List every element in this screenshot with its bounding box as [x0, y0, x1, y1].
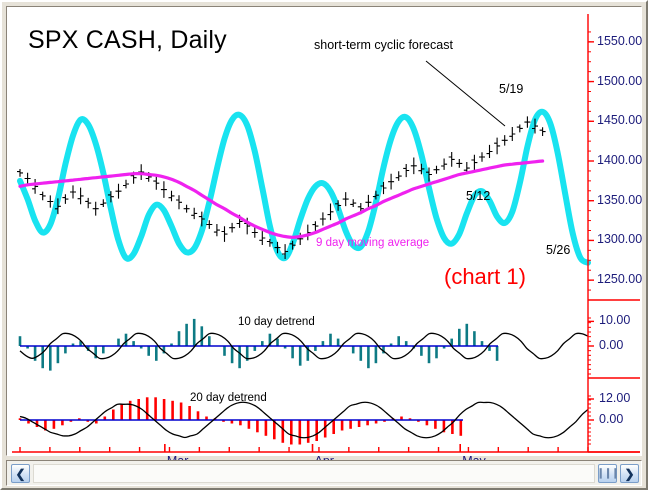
- chart-plot-area[interactable]: [8, 8, 640, 454]
- page-title: SPX CASH, Daily: [28, 26, 227, 55]
- detrend-10-y-axis-label: 10.00: [599, 313, 630, 327]
- label-chart-number: (chart 1): [444, 264, 526, 290]
- detrend-10-y-axis-label: 0.00: [599, 338, 623, 352]
- ohlc-bar: [328, 204, 334, 221]
- annotation-leader-line: [426, 61, 505, 126]
- ohlc-bar: [494, 138, 500, 155]
- ohlc-bar: [471, 155, 477, 171]
- ohlc-bar: [184, 205, 190, 213]
- y-axis-label: 1300.00: [597, 232, 642, 246]
- ohlc-bar: [517, 125, 523, 133]
- ohlc-bar: [62, 194, 68, 204]
- chart-svg: [8, 8, 640, 454]
- legend-moving-average: 9 day moving average: [316, 237, 429, 249]
- detrend-20-y-axis-label: 0.00: [599, 412, 623, 426]
- ohlc-bar: [524, 116, 530, 127]
- ohlc-bar: [32, 179, 38, 194]
- ohlc-bar: [456, 159, 462, 168]
- y-axis-label: 1250.00: [597, 272, 642, 286]
- ohlc-bar: [343, 192, 349, 206]
- ohlc-bar: [161, 181, 167, 198]
- ohlc-bar: [85, 198, 91, 208]
- ohlc-bar: [123, 180, 129, 189]
- label-date-5-26: 5/26: [546, 243, 570, 257]
- ohlc-bar: [411, 158, 417, 175]
- ohlc-bar: [70, 185, 76, 198]
- ohlc-bar: [479, 152, 485, 162]
- y-axis-label: 1350.00: [597, 193, 642, 207]
- ohlc-bar: [434, 166, 440, 174]
- scrollbar-track[interactable]: [33, 464, 595, 483]
- y-axis-label: 1550.00: [597, 34, 642, 48]
- ohlc-bar: [305, 225, 311, 241]
- ohlc-bar: [396, 171, 402, 181]
- ohlc-bar: [169, 191, 175, 202]
- ohlc-bar: [502, 135, 508, 146]
- ohlc-bar: [116, 184, 122, 199]
- ohlc-bar: [17, 169, 23, 177]
- horizontal-scrollbar[interactable]: ❮ ❙❙❙ ❯: [6, 460, 642, 486]
- ohlc-bar: [259, 231, 265, 245]
- label-date-5-19: 5/19: [499, 82, 523, 96]
- ohlc-bar: [25, 173, 31, 184]
- ohlc-bar: [441, 159, 447, 170]
- label-date-5-12: 5/12: [466, 189, 490, 203]
- label-detrend-10: 10 day detrend: [238, 316, 315, 328]
- ohlc-bar: [176, 195, 182, 209]
- detrend-20-y-axis-label: 12.00: [599, 391, 630, 405]
- ohlc-bar: [350, 199, 356, 207]
- chart-window: SPX CASH, Daily short-term cyclic foreca…: [0, 0, 648, 490]
- annotation-forecast: short-term cyclic forecast: [314, 38, 453, 52]
- scrollbar-grip-icon[interactable]: ❙❙❙: [598, 464, 617, 483]
- ohlc-bar: [153, 177, 159, 190]
- ohlc-bar: [100, 199, 106, 207]
- ohlc-bar: [40, 192, 46, 201]
- ohlc-bar: [191, 208, 197, 219]
- cyclic-forecast-line: [20, 112, 588, 263]
- ohlc-bar: [222, 226, 228, 242]
- ohlc-bar: [78, 188, 84, 205]
- ohlc-bar: [487, 145, 493, 158]
- ohlc-bar: [509, 127, 515, 141]
- label-detrend-20: 20 day detrend: [190, 392, 267, 404]
- ohlc-bar: [312, 221, 318, 231]
- y-axis-label: 1450.00: [597, 113, 642, 127]
- ohlc-bar: [320, 212, 326, 225]
- y-axis-label: 1400.00: [597, 153, 642, 167]
- ohlc-bar: [449, 152, 455, 167]
- ohlc-bar: [388, 174, 394, 190]
- ohlc-bar: [403, 164, 409, 177]
- ohlc-bar: [93, 202, 99, 216]
- ohlc-bar: [214, 224, 220, 236]
- scroll-left-arrow-icon[interactable]: ❮: [11, 464, 30, 483]
- ohlc-bar: [229, 223, 235, 233]
- ohlc-bar: [540, 127, 546, 136]
- ohlc-bar: [47, 195, 53, 207]
- scroll-right-arrow-icon[interactable]: ❯: [620, 464, 639, 483]
- y-axis-label: 1500.00: [597, 74, 642, 88]
